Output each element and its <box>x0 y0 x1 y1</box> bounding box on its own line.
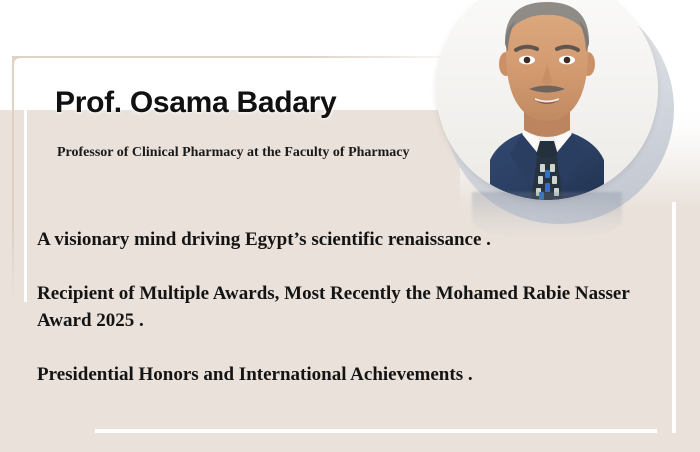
profile-card: Prof. Osama Badary Professor of Clinical… <box>0 0 700 452</box>
highlights-list: A visionary mind driving Egypt’s scienti… <box>37 226 637 388</box>
frame-right-line <box>672 202 676 433</box>
frame-inner-left-line <box>24 66 27 302</box>
list-item: A visionary mind driving Egypt’s scienti… <box>37 226 637 253</box>
portrait <box>436 0 674 216</box>
subtitle: Professor of Clinical Pharmacy at the Fa… <box>57 145 410 161</box>
list-item: Presidential Honors and International Ac… <box>37 361 637 388</box>
page-title: Prof. Osama Badary <box>55 86 336 120</box>
frame-outer-left-line <box>12 56 14 302</box>
frame-inner-top-line <box>24 66 479 69</box>
list-item: Recipient of Multiple Awards, Most Recen… <box>37 280 631 334</box>
frame-bottom-line <box>95 429 657 433</box>
frame-outer-top-line <box>12 56 482 58</box>
